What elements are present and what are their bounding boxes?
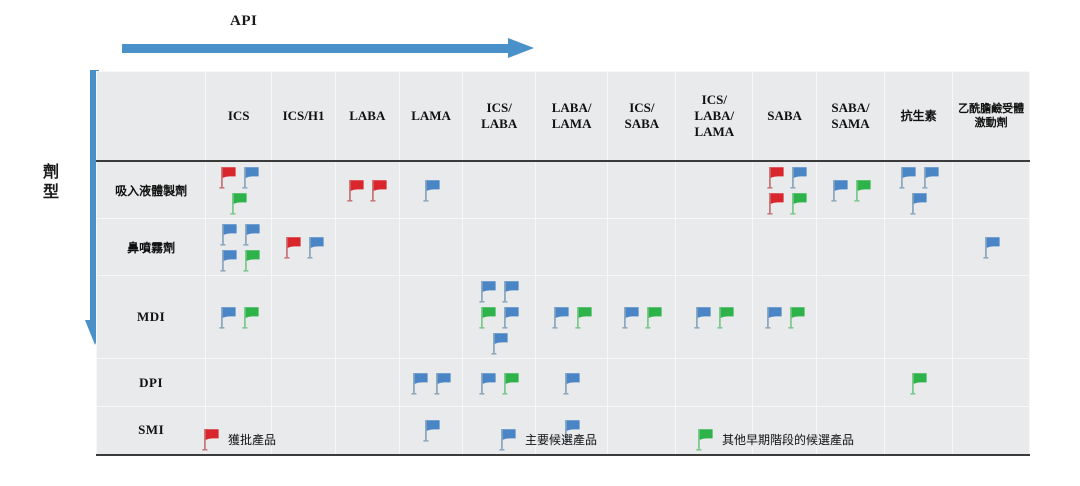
- blue-flag-icon: [217, 221, 240, 247]
- flag-group: [953, 232, 1029, 262]
- flag-group: [206, 162, 271, 218]
- green-flag-icon: [239, 304, 262, 330]
- cell-鼻噴霧劑-LAMA: [399, 219, 463, 276]
- green-flag-icon: [227, 190, 250, 216]
- matrix-body: 吸入液體製劑鼻噴霧劑MDIDPISMI: [97, 161, 1030, 455]
- column-header-LABA--LAMA: LABA/LAMA: [535, 72, 607, 162]
- cell-鼻噴霧劑-ICS--SABA: [608, 219, 676, 276]
- cell-MDI-ICS--SABA: [608, 276, 676, 359]
- cell-鼻噴霧劑-SABA: [753, 219, 817, 276]
- flag-group: [817, 175, 884, 205]
- blue-flag-icon: [239, 164, 262, 190]
- cell-吸入液體製劑-SABA--SAMA: [816, 161, 884, 219]
- flag-group: [272, 232, 335, 262]
- api-arrow-icon: [122, 38, 534, 58]
- flag-group: [676, 302, 752, 332]
- column-header-ICS--SABA: ICS/SABA: [608, 72, 676, 162]
- blue-flag-icon: [691, 304, 714, 330]
- cell-DPI-ICS: [206, 359, 272, 407]
- flag-group: [885, 162, 952, 218]
- red-flag-icon: [216, 164, 239, 190]
- column-header-ICS-H1: ICS/H1: [272, 72, 336, 162]
- cell-吸入液體製劑-ICS-H1: [272, 161, 336, 219]
- dosage-form-axis-label: 劑型: [40, 162, 62, 202]
- green-flag-icon: [642, 304, 665, 330]
- legend-label: 其他早期階段的候選產品: [722, 431, 854, 448]
- legend-item-red: 獲批產品: [199, 426, 276, 452]
- cell-MDI-抗生素: [885, 276, 953, 359]
- legend-item-blue: 主要候選產品: [496, 426, 597, 452]
- cell-鼻噴霧劑-SABA--SAMA: [816, 219, 884, 276]
- cell-鼻噴霧劑-乙酰膽鹼受體激動劑: [953, 219, 1030, 276]
- cell-DPI-LAMA: [399, 359, 463, 407]
- green-flag-icon: [476, 304, 499, 330]
- flag-group: [608, 302, 675, 332]
- column-header-LABA: LABA: [335, 72, 399, 162]
- blue-flag-icon: [408, 370, 431, 396]
- blue-flag-icon: [499, 304, 522, 330]
- green-flag-icon: [714, 304, 737, 330]
- row-header-吸入液體製劑: 吸入液體製劑: [97, 161, 206, 219]
- cell-吸入液體製劑-ICS--LABA--LAMA: [676, 161, 753, 219]
- flag-group: [536, 302, 607, 332]
- blue-flag-icon: [896, 164, 919, 190]
- table-row: MDI: [97, 276, 1030, 359]
- cell-吸入液體製劑-SABA: [753, 161, 817, 219]
- column-header-LAMA: LAMA: [399, 72, 463, 162]
- cell-MDI-乙酰膽鹼受體激動劑: [953, 276, 1030, 359]
- flag-group: [206, 219, 274, 275]
- cell-DPI-SABA: [753, 359, 817, 407]
- flag-group: [400, 175, 463, 205]
- cell-鼻噴霧劑-ICS--LABA: [463, 219, 535, 276]
- green-flag-icon: [693, 426, 716, 452]
- flag-group: [400, 368, 463, 398]
- blue-flag-icon: [431, 370, 454, 396]
- flag-group: [465, 276, 533, 358]
- cell-鼻噴霧劑-ICS-H1: [272, 219, 336, 276]
- cell-吸入液體製劑-ICS: [206, 161, 272, 219]
- legend-label: 主要候選產品: [525, 431, 597, 448]
- column-header-ICS--LABA--LAMA: ICS/LABA/LAMA: [676, 72, 753, 162]
- cell-鼻噴霧劑-ICS: [206, 219, 272, 276]
- blue-flag-icon: [488, 330, 511, 356]
- cell-DPI-乙酰膽鹼受體激動劑: [953, 359, 1030, 407]
- blue-flag-icon: [496, 426, 519, 452]
- cell-MDI-ICS: [206, 276, 272, 359]
- cell-MDI-SABA--SAMA: [816, 276, 884, 359]
- column-header-ICS--LABA: ICS/LABA: [463, 72, 535, 162]
- cell-DPI-ICS-H1: [272, 359, 336, 407]
- blue-flag-icon: [619, 304, 642, 330]
- cell-DPI-SABA--SAMA: [816, 359, 884, 407]
- table-row: DPI: [97, 359, 1030, 407]
- cell-鼻噴霧劑-抗生素: [885, 219, 953, 276]
- blue-flag-icon: [476, 370, 499, 396]
- cell-MDI-ICS--LABA--LAMA: [676, 276, 753, 359]
- cell-MDI-ICS--LABA: [463, 276, 535, 359]
- column-header-乙酰膽鹼受體激動劑: 乙酰膽鹼受體激動劑: [953, 72, 1030, 162]
- green-flag-icon: [851, 177, 874, 203]
- cell-DPI-ICS--LABA: [463, 359, 535, 407]
- table-row: 吸入液體製劑: [97, 161, 1030, 219]
- blue-flag-icon: [217, 247, 240, 273]
- row-header-DPI: DPI: [97, 359, 206, 407]
- header-row: ICSICS/H1LABALAMAICS/LABALABA/LAMAICS/SA…: [97, 72, 1030, 162]
- cell-DPI-ICS--SABA: [608, 359, 676, 407]
- cell-DPI-抗生素: [885, 359, 953, 407]
- blue-flag-icon: [980, 234, 1003, 260]
- cell-鼻噴霧劑-LABA--LAMA: [535, 219, 607, 276]
- flag-group: [336, 175, 399, 205]
- row-header-鼻噴霧劑: 鼻噴霧劑: [97, 219, 206, 276]
- cell-吸入液體製劑-乙酰膽鹼受體激動劑: [953, 161, 1030, 219]
- legend-label: 獲批產品: [228, 431, 276, 448]
- green-flag-icon: [240, 247, 263, 273]
- blue-flag-icon: [787, 164, 810, 190]
- blue-flag-icon: [919, 164, 942, 190]
- cell-DPI-ICS--LABA--LAMA: [676, 359, 753, 407]
- column-header-抗生素: 抗生素: [885, 72, 953, 162]
- red-flag-icon: [367, 177, 390, 203]
- blue-flag-icon: [476, 278, 499, 304]
- flag-group: [753, 302, 816, 332]
- flag-group: [753, 162, 821, 218]
- cell-MDI-LABA: [335, 276, 399, 359]
- red-flag-icon: [344, 177, 367, 203]
- legend-item-green: 其他早期階段的候選產品: [693, 426, 854, 452]
- flag-group: [536, 368, 607, 398]
- blue-flag-icon: [240, 221, 263, 247]
- cell-吸入液體製劑-LAMA: [399, 161, 463, 219]
- blue-flag-icon: [560, 370, 583, 396]
- blue-flag-icon: [499, 278, 522, 304]
- row-header-MDI: MDI: [97, 276, 206, 359]
- green-flag-icon: [572, 304, 595, 330]
- cell-吸入液體製劑-ICS--LABA: [463, 161, 535, 219]
- matrix-header: ICSICS/H1LABALAMAICS/LABALABA/LAMAICS/SA…: [97, 72, 1030, 162]
- blue-flag-icon: [762, 304, 785, 330]
- chart-canvas: API 劑型 ICSICS/H1LABALAMAICS/LABALABA/LAM…: [0, 0, 1080, 486]
- green-flag-icon: [907, 370, 930, 396]
- cell-DPI-LABA--LAMA: [535, 359, 607, 407]
- blue-flag-icon: [216, 304, 239, 330]
- cell-吸入液體製劑-LABA--LAMA: [535, 161, 607, 219]
- matrix-corner-cell: [97, 72, 206, 162]
- red-flag-icon: [764, 164, 787, 190]
- cell-MDI-LAMA: [399, 276, 463, 359]
- green-flag-icon: [785, 304, 808, 330]
- flag-group: [206, 302, 271, 332]
- legend: 獲批產品主要候選產品其他早期階段的候選產品: [96, 420, 1030, 465]
- blue-flag-icon: [907, 190, 930, 216]
- cell-MDI-ICS-H1: [272, 276, 336, 359]
- blue-flag-icon: [420, 177, 443, 203]
- blue-flag-icon: [828, 177, 851, 203]
- cell-MDI-LABA--LAMA: [535, 276, 607, 359]
- flag-group: [463, 368, 534, 398]
- flag-group: [885, 368, 952, 398]
- green-flag-icon: [499, 370, 522, 396]
- cell-吸入液體製劑-抗生素: [885, 161, 953, 219]
- red-flag-icon: [764, 190, 787, 216]
- api-axis-label: API: [230, 13, 257, 30]
- cell-DPI-LABA: [335, 359, 399, 407]
- green-flag-icon: [787, 190, 810, 216]
- red-flag-icon: [199, 426, 222, 452]
- column-header-SABA: SABA: [753, 72, 817, 162]
- column-header-ICS: ICS: [206, 72, 272, 162]
- blue-flag-icon: [549, 304, 572, 330]
- column-header-SABA--SAMA: SABA/SAMA: [816, 72, 884, 162]
- cell-鼻噴霧劑-ICS--LABA--LAMA: [676, 219, 753, 276]
- blue-flag-icon: [304, 234, 327, 260]
- cell-鼻噴霧劑-LABA: [335, 219, 399, 276]
- cell-MDI-SABA: [753, 276, 817, 359]
- table-row: 鼻噴霧劑: [97, 219, 1030, 276]
- cell-吸入液體製劑-LABA: [335, 161, 399, 219]
- red-flag-icon: [281, 234, 304, 260]
- cell-吸入液體製劑-ICS--SABA: [608, 161, 676, 219]
- matrix-table: ICSICS/H1LABALAMAICS/LABALABA/LAMAICS/SA…: [96, 71, 1030, 456]
- pipeline-matrix: ICSICS/H1LABALAMAICS/LABALABA/LAMAICS/SA…: [96, 71, 1030, 414]
